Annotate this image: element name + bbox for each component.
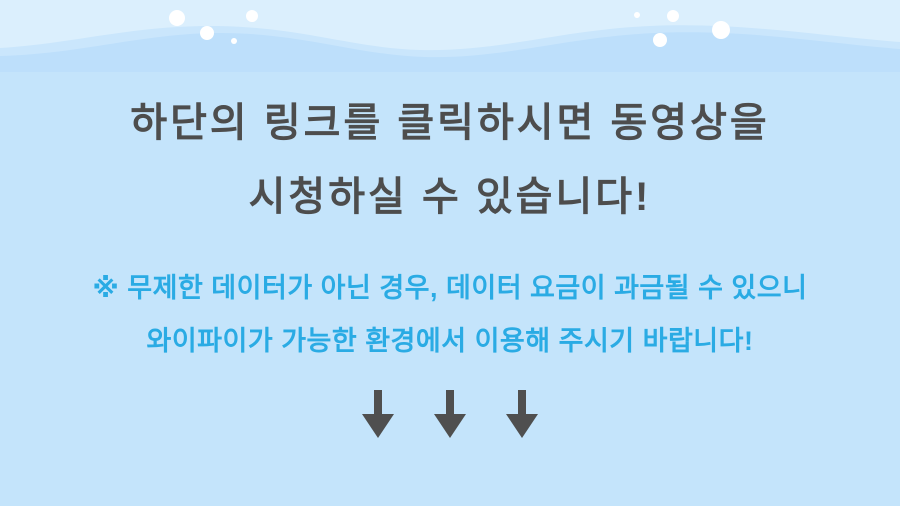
arrow-down-icon — [504, 390, 540, 438]
promo-poster: 하단의 링크를 클릭하시면 동영상을 시청하실 수 있습니다! ※ 무제한 데이… — [0, 0, 900, 506]
bubble-icon — [712, 21, 730, 39]
headline-line-2: 시청하실 수 있습니다! — [0, 160, 900, 234]
bubble-icon — [246, 10, 258, 22]
bubble-icon — [653, 33, 667, 47]
bubble-icon — [231, 38, 237, 44]
bubble-icon — [667, 10, 679, 22]
notice-line-2: 와이파이가 가능한 환경에서 이용해 주시기 바랍니다! — [0, 315, 900, 368]
bubble-icon — [169, 10, 185, 26]
notice-line-1: ※ 무제한 데이터가 아닌 경우, 데이터 요금이 과금될 수 있으니 — [0, 262, 900, 315]
arrow-row — [0, 390, 900, 438]
headline-block: 하단의 링크를 클릭하시면 동영상을 시청하실 수 있습니다! — [0, 86, 900, 234]
arrow-down-icon — [360, 390, 396, 438]
top-wave-decoration — [0, 0, 900, 72]
headline-line-1: 하단의 링크를 클릭하시면 동영상을 — [0, 86, 900, 160]
bubble-icon — [634, 12, 640, 18]
notice-block: ※ 무제한 데이터가 아닌 경우, 데이터 요금이 과금될 수 있으니 와이파이… — [0, 262, 900, 368]
wave-graphic — [0, 0, 900, 72]
arrow-down-icon — [432, 390, 468, 438]
bubble-icon — [200, 26, 214, 40]
